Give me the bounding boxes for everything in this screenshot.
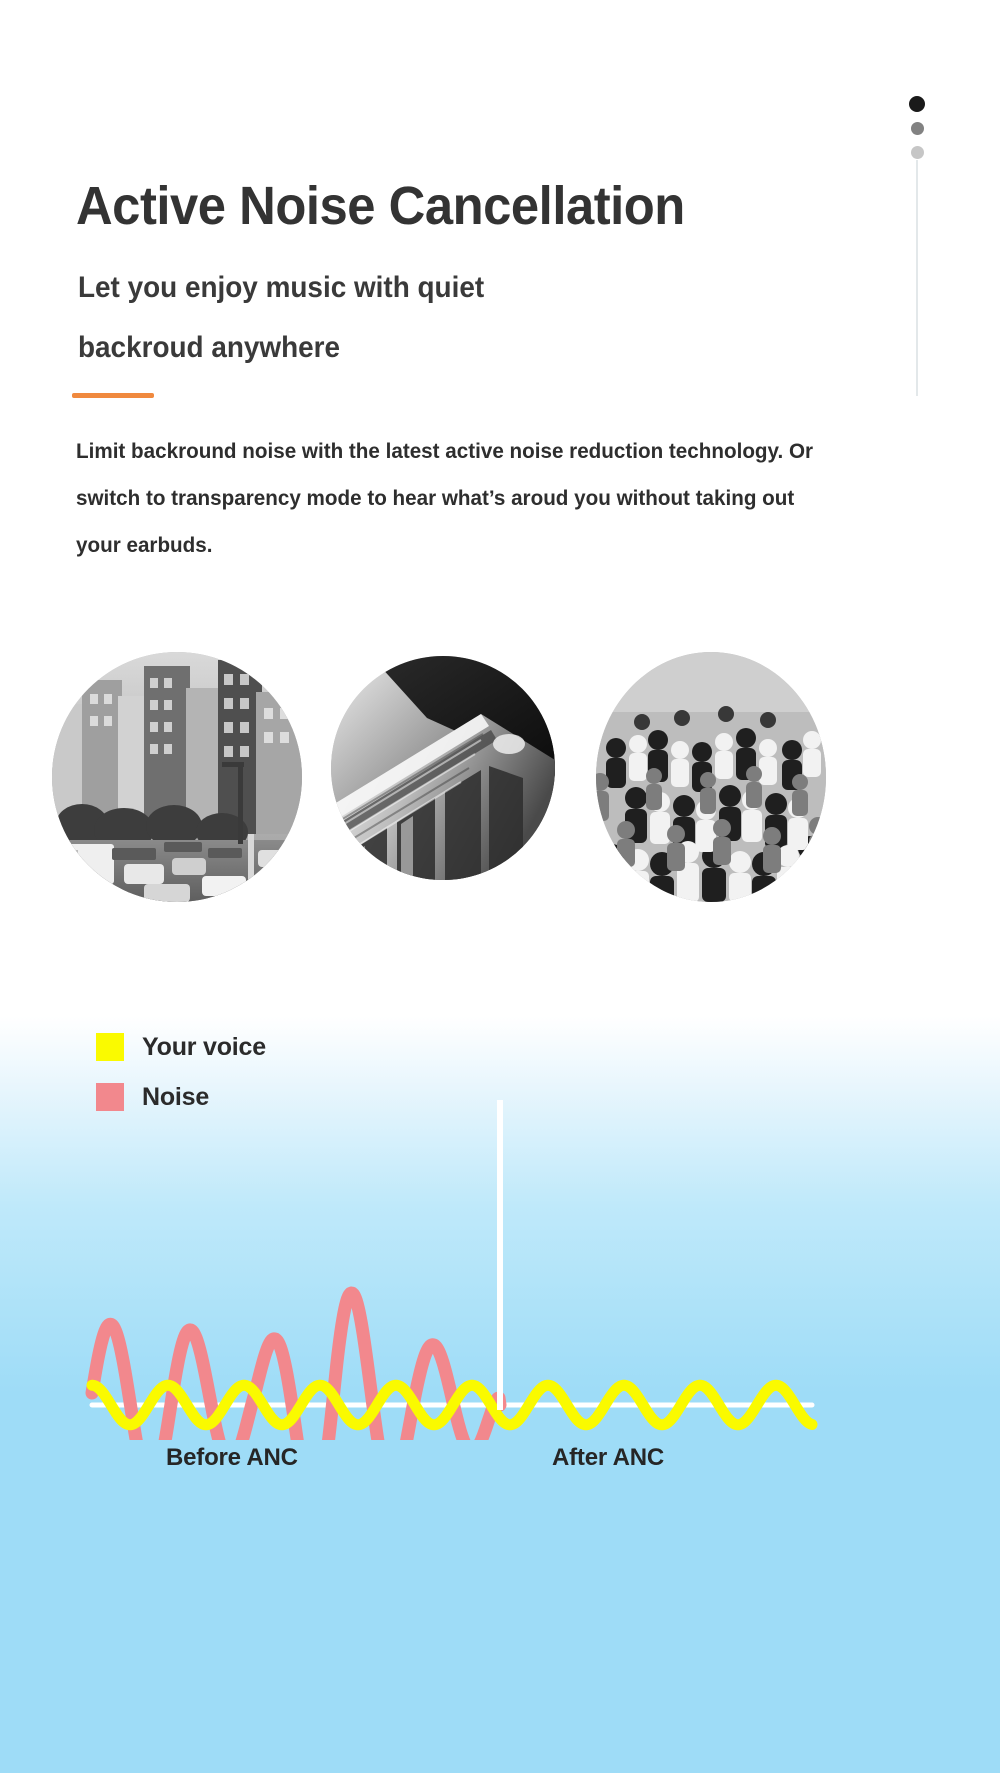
label-before-anc: Before ANC: [166, 1444, 298, 1472]
page-subtitle-line-2: backroud anywhere: [78, 318, 729, 378]
page-subtitle: Let you enjoy music with quiet backroud …: [78, 258, 729, 378]
city-traffic-photo: [52, 652, 302, 902]
accent-divider: [72, 393, 154, 398]
hero-section: Active Noise Cancellation Let you enjoy …: [0, 0, 1000, 1112]
body-paragraph: Limit backround noise with the latest ac…: [76, 428, 834, 569]
legend-item-voice: Your voice: [96, 1022, 456, 1072]
crowd-photo: [596, 652, 826, 902]
subway-train-photo: [331, 656, 555, 880]
photo-row: [0, 652, 1000, 914]
step-dot-active-icon[interactable]: [909, 96, 925, 112]
waveform-chart: [0, 1080, 1000, 1440]
waveform-svg: [0, 1080, 1000, 1440]
step-indicator: [909, 96, 931, 396]
step-indicator-line: [916, 160, 918, 396]
step-dot-third-icon[interactable]: [911, 146, 924, 159]
step-dot-second-icon[interactable]: [911, 122, 924, 135]
page-subtitle-line-1: Let you enjoy music with quiet: [78, 258, 729, 318]
label-after-anc: After ANC: [552, 1444, 664, 1472]
page-title: Active Noise Cancellation: [76, 174, 685, 238]
legend-swatch-voice-icon: [96, 1033, 124, 1061]
legend-label-voice: Your voice: [142, 1033, 266, 1062]
